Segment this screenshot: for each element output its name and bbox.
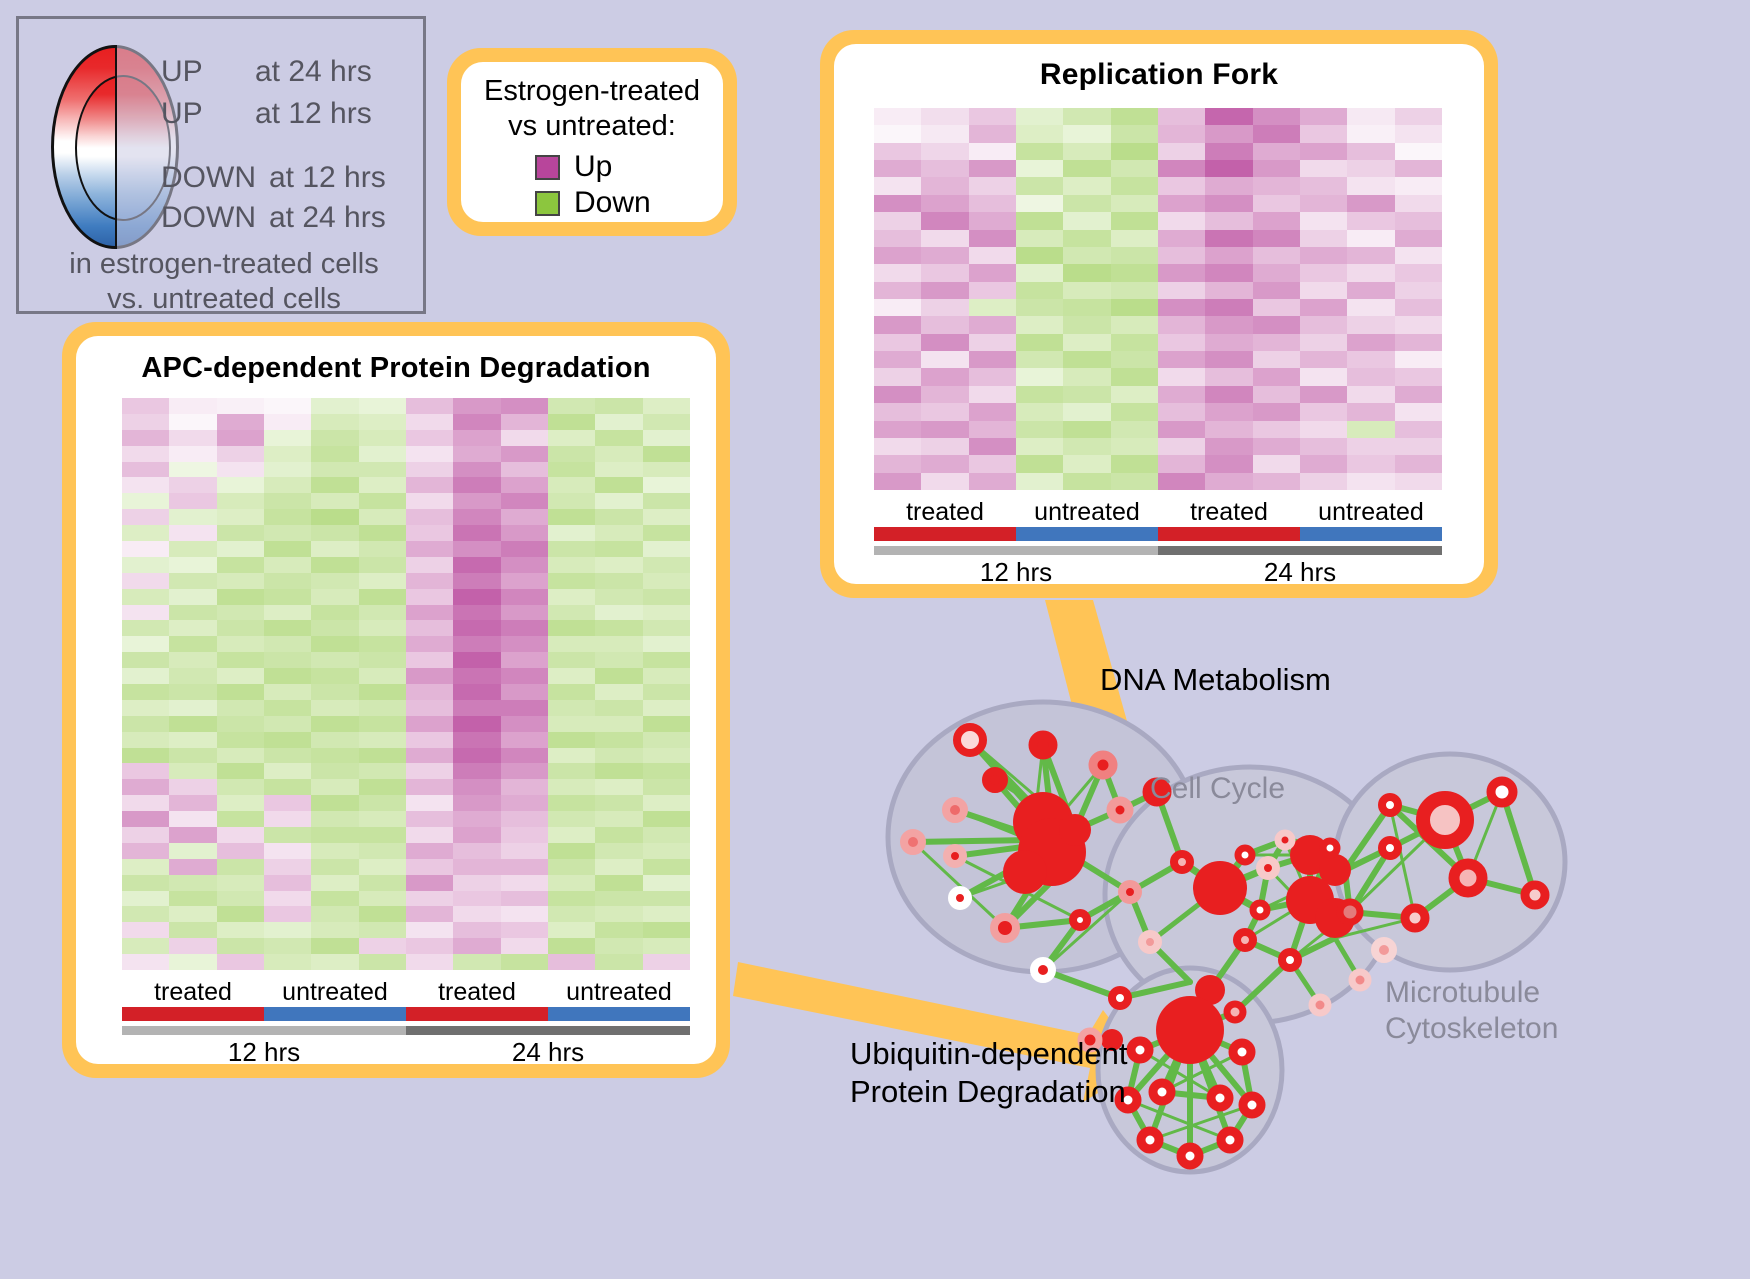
node <box>1323 841 1337 855</box>
timepoint-labels: 12 hrs24 hrs <box>874 557 1442 588</box>
condition-bar-segment <box>874 527 1016 541</box>
heatmap-cell <box>169 700 216 716</box>
circle-legend-footer-line2: vs. untreated cells <box>19 282 429 317</box>
heatmap-cell <box>501 875 548 891</box>
heatmap-cell <box>1158 230 1205 247</box>
heatmap-cell <box>311 684 358 700</box>
condition-bar-segment <box>264 1007 406 1021</box>
heatmap-cell <box>169 763 216 779</box>
heatmap-cell <box>217 906 264 922</box>
heatmap-cell <box>548 875 595 891</box>
circle-legend-footer: in estrogen-treated cells vs. untreated … <box>19 247 429 317</box>
heatmap-cell <box>501 938 548 954</box>
heatmap-cell <box>217 843 264 859</box>
heatmap-cell <box>548 716 595 732</box>
heatmap-cell <box>501 541 548 557</box>
heatmap-cell <box>643 398 690 414</box>
heatmap-cell <box>1158 386 1205 403</box>
heatmap-cell <box>1205 160 1252 177</box>
heatmap-cell <box>169 462 216 478</box>
heatmap-cell <box>264 446 311 462</box>
circle-legend-box: UP at 24 hrs UP at 12 hrs DOWN at 12 hrs… <box>16 16 426 314</box>
heatmap-cell <box>1111 195 1158 212</box>
heatmap-cell <box>122 573 169 589</box>
heatmap-cell <box>921 282 968 299</box>
heatmap-cell <box>548 795 595 811</box>
heatmap-cell <box>217 541 264 557</box>
heatmap-cell <box>264 525 311 541</box>
heatmap-cell <box>311 827 358 843</box>
heatmap-cell <box>1300 177 1347 194</box>
heatmap-cell <box>1111 177 1158 194</box>
node <box>1454 864 1482 892</box>
heatmap-cell <box>122 557 169 573</box>
heatmap-cell <box>453 652 500 668</box>
heatmap-cell <box>122 684 169 700</box>
heatmap-cell <box>1253 455 1300 472</box>
heatmap-cell <box>1347 334 1394 351</box>
node <box>1122 884 1138 900</box>
heatmap-cell <box>453 700 500 716</box>
heatmap-cell <box>1395 473 1442 490</box>
heatmap-cell <box>217 716 264 732</box>
heatmap-cell <box>1158 160 1205 177</box>
heatmap-cell <box>1395 368 1442 385</box>
condition-color-bar <box>122 1007 690 1021</box>
heatmap-cell <box>874 108 921 125</box>
timepoint-label: 12 hrs <box>122 1037 406 1068</box>
heatmap-cell <box>264 795 311 811</box>
heatmap-cell <box>1347 264 1394 281</box>
condition-label: untreated <box>1300 498 1442 527</box>
heatmap-cell <box>1016 334 1063 351</box>
heatmap-cell <box>359 795 406 811</box>
heatmap-cell <box>217 605 264 621</box>
heatmap-cell <box>122 493 169 509</box>
heatmap-cell <box>548 684 595 700</box>
heatmap-cell <box>311 748 358 764</box>
heatmap-cell <box>1347 299 1394 316</box>
heatmap-cell <box>1111 421 1158 438</box>
heatmap-cell <box>921 177 968 194</box>
heatmap-cell <box>643 906 690 922</box>
heatmap-cell <box>406 954 453 970</box>
heatmap-cell <box>169 525 216 541</box>
heatmap-cell <box>643 573 690 589</box>
heatmap-cell <box>311 525 358 541</box>
node <box>1243 1096 1261 1114</box>
node <box>952 890 968 906</box>
node <box>1141 1131 1159 1149</box>
heatmap-cell <box>969 264 1016 281</box>
heatmap-cell <box>1111 247 1158 264</box>
heatmap-cell <box>359 779 406 795</box>
heatmap-cell <box>643 541 690 557</box>
heatmap-cell <box>453 430 500 446</box>
legend-time-0: at 24 hrs <box>255 55 372 89</box>
heatmap-cell <box>359 668 406 684</box>
heatmap-cell <box>264 684 311 700</box>
node-hub <box>1003 850 1047 894</box>
heatmap-cell <box>1395 160 1442 177</box>
heatmap-cell <box>1158 351 1205 368</box>
heatmap-cell <box>217 620 264 636</box>
heatmap-cell <box>1300 247 1347 264</box>
heatmap-cell <box>453 891 500 907</box>
heatmap-cell <box>311 462 358 478</box>
heatmap-cell <box>406 827 453 843</box>
heatmap-cell <box>548 763 595 779</box>
node <box>1227 1004 1243 1020</box>
heatmap-cell <box>1347 438 1394 455</box>
heatmap-cell <box>359 462 406 478</box>
heatmap-cell <box>359 906 406 922</box>
heatmap-cell <box>1205 177 1252 194</box>
heatmap-cell <box>1300 125 1347 142</box>
heatmap-cell <box>453 462 500 478</box>
heatmap-cell <box>359 843 406 859</box>
heatmap-cell <box>969 160 1016 177</box>
heatmap-cell <box>921 334 968 351</box>
heatmap-cell <box>595 652 642 668</box>
heatmap-cell <box>406 557 453 573</box>
heatmap-cell <box>1063 177 1110 194</box>
heatmap-cell <box>264 922 311 938</box>
heatmap-cell <box>406 605 453 621</box>
heatmap-cell <box>501 732 548 748</box>
heatmap-cell <box>1253 351 1300 368</box>
heatmap-cell <box>406 748 453 764</box>
heatmap-cell <box>359 811 406 827</box>
apc-degradation-title: APC-dependent Protein Degradation <box>76 336 716 385</box>
heatmap-cell <box>1395 282 1442 299</box>
heatmap-cell <box>643 922 690 938</box>
heatmap-cell <box>264 891 311 907</box>
heatmap-cell <box>359 652 406 668</box>
heatmap-cell <box>643 748 690 764</box>
heatmap-cell <box>217 573 264 589</box>
heatmap-cell <box>359 875 406 891</box>
heatmap-cell <box>501 922 548 938</box>
heatmap-cell <box>643 509 690 525</box>
heatmap-cell <box>643 859 690 875</box>
condition-label: untreated <box>1016 498 1158 527</box>
heatmap-cell <box>1063 421 1110 438</box>
heatmap-cell <box>874 160 921 177</box>
timepoint-color-bar <box>122 1026 690 1035</box>
heatmap-cell <box>169 716 216 732</box>
heatmap-cell <box>1063 473 1110 490</box>
heatmap-cell <box>1158 247 1205 264</box>
heatmap-cell <box>643 605 690 621</box>
heatmap-cell <box>1063 212 1110 229</box>
key-title-line2: vs untreated: <box>461 109 723 144</box>
heatmap-cell <box>1395 299 1442 316</box>
heatmap-cell <box>921 351 968 368</box>
heatmap-cell <box>643 684 690 700</box>
heatmap-cell <box>1395 264 1442 281</box>
heatmap-cell <box>217 493 264 509</box>
heatmap-cell <box>874 421 921 438</box>
heatmap-cell <box>548 462 595 478</box>
heatmap-cell <box>217 859 264 875</box>
heatmap-cell <box>453 589 500 605</box>
heatmap-cell <box>1395 108 1442 125</box>
replication-fork-heatmap <box>874 108 1442 490</box>
donut-midline <box>115 45 117 249</box>
heatmap-cell <box>1016 195 1063 212</box>
heatmap-cell <box>217 652 264 668</box>
heatmap-cell <box>122 732 169 748</box>
heatmap-cell <box>217 875 264 891</box>
heatmap-cell <box>969 473 1016 490</box>
heatmap-cell <box>1205 143 1252 160</box>
heatmap-cell <box>1300 403 1347 420</box>
condition-label: untreated <box>548 978 690 1007</box>
heatmap-cell <box>169 636 216 652</box>
heatmap-cell <box>1205 195 1252 212</box>
heatmap-cell <box>1253 421 1300 438</box>
heatmap-cell <box>1300 108 1347 125</box>
heatmap-cell <box>1063 230 1110 247</box>
heatmap-cell <box>595 684 642 700</box>
heatmap-cell <box>595 446 642 462</box>
heatmap-cell <box>874 264 921 281</box>
heatmap-cell <box>643 716 690 732</box>
heatmap-cell <box>1158 334 1205 351</box>
timepoint-bar-segment <box>874 546 1158 555</box>
heatmap-cell <box>453 605 500 621</box>
heatmap-cell <box>595 620 642 636</box>
heatmap-cell <box>1205 438 1252 455</box>
heatmap-cell <box>406 779 453 795</box>
heatmap-cell <box>122 779 169 795</box>
heatmap-cell <box>1253 438 1300 455</box>
condition-bar-segment <box>1158 527 1300 541</box>
condition-bar-segment <box>1300 527 1442 541</box>
heatmap-cell <box>217 795 264 811</box>
heatmap-cell <box>264 811 311 827</box>
heatmap-cell <box>406 938 453 954</box>
heatmap-cell <box>406 620 453 636</box>
heatmap-cell <box>1111 282 1158 299</box>
heatmap-cell <box>1111 264 1158 281</box>
heatmap-cell <box>548 843 595 859</box>
heatmap-cell <box>406 573 453 589</box>
heatmap-cell <box>1158 421 1205 438</box>
heatmap-cell <box>453 509 500 525</box>
heatmap-cell <box>595 779 642 795</box>
heatmap-cell <box>169 620 216 636</box>
heatmap-cell <box>1111 212 1158 229</box>
heatmap-cell <box>264 859 311 875</box>
heatmap-cell <box>921 108 968 125</box>
heatmap-cell <box>122 795 169 811</box>
heatmap-cell <box>874 316 921 333</box>
heatmap-cell <box>1016 125 1063 142</box>
heatmap-cell <box>595 938 642 954</box>
heatmap-cell <box>969 125 1016 142</box>
heatmap-cell <box>501 716 548 732</box>
heatmap-cell <box>595 891 642 907</box>
timepoint-bar-segment <box>1158 546 1442 555</box>
heatmap-cell <box>169 795 216 811</box>
heatmap-cell <box>1347 403 1394 420</box>
condition-bar-segment <box>548 1007 690 1021</box>
heatmap-cell <box>406 732 453 748</box>
heatmap-cell <box>1347 125 1394 142</box>
heatmap-cell <box>169 589 216 605</box>
heatmap-cell <box>264 462 311 478</box>
heatmap-cell <box>1253 125 1300 142</box>
heatmap-cell <box>1300 212 1347 229</box>
heatmap-cell <box>1347 230 1394 247</box>
heatmap-cell <box>548 891 595 907</box>
heatmap-cell <box>1300 282 1347 299</box>
heatmap-cell <box>643 795 690 811</box>
heatmap-cell <box>501 509 548 525</box>
heatmap-cell <box>406 716 453 732</box>
pathway-network: DNA Metabolism Cell Cycle Microtubule Cy… <box>790 600 1750 1279</box>
heatmap-cell <box>501 557 548 573</box>
heatmap-cell <box>122 811 169 827</box>
heatmap-cell <box>874 334 921 351</box>
heatmap-cell <box>548 620 595 636</box>
node <box>1253 903 1267 917</box>
heatmap-cell <box>1347 455 1394 472</box>
heatmap-cell <box>874 230 921 247</box>
heatmap-cell <box>595 732 642 748</box>
heatmap-cell <box>264 573 311 589</box>
heatmap-cell <box>501 811 548 827</box>
heatmap-cell <box>217 748 264 764</box>
heatmap-cell <box>969 421 1016 438</box>
heatmap-cell <box>264 843 311 859</box>
heatmap-cell <box>311 716 358 732</box>
heatmap-cell <box>311 843 358 859</box>
heatmap-cell <box>169 668 216 684</box>
heatmap-cell <box>1063 108 1110 125</box>
heatmap-cell <box>453 843 500 859</box>
heatmap-cell <box>311 700 358 716</box>
heatmap-cell <box>217 477 264 493</box>
heatmap-cell <box>595 716 642 732</box>
heatmap-cell <box>264 493 311 509</box>
replication-fork-panel: Replication Fork treateduntreatedtreated… <box>820 30 1498 598</box>
heatmap-cell <box>643 875 690 891</box>
heatmap-cell <box>217 732 264 748</box>
node <box>1153 1083 1171 1101</box>
node <box>1142 934 1158 950</box>
apc-degradation-panel: APC-dependent Protein Degradation treate… <box>62 322 730 1078</box>
heatmap-cell <box>1347 212 1394 229</box>
heatmap-cell <box>359 509 406 525</box>
heatmap-cell <box>1205 230 1252 247</box>
heatmap-cell <box>122 922 169 938</box>
heatmap-cell <box>1158 403 1205 420</box>
heatmap-cell <box>1300 299 1347 316</box>
heatmap-cell <box>1395 351 1442 368</box>
heatmap-cell <box>595 557 642 573</box>
heatmap-cell <box>169 446 216 462</box>
heatmap-cell <box>264 636 311 652</box>
heatmap-cell <box>406 811 453 827</box>
node <box>1221 1131 1239 1149</box>
heatmap-cell <box>643 446 690 462</box>
heatmap-cell <box>643 636 690 652</box>
heatmap-cell <box>548 906 595 922</box>
heatmap-cell <box>169 398 216 414</box>
heatmap-cell <box>921 160 968 177</box>
heatmap-cell <box>169 922 216 938</box>
heatmap-cell <box>453 620 500 636</box>
heatmap-cell <box>874 455 921 472</box>
node <box>1034 961 1052 979</box>
up-swatch-icon <box>535 155 560 180</box>
node <box>1340 902 1360 922</box>
heatmap-cell <box>359 684 406 700</box>
heatmap-cell <box>969 438 1016 455</box>
condition-bar-segment <box>406 1007 548 1021</box>
heatmap-cell <box>264 938 311 954</box>
heatmap-cell <box>217 589 264 605</box>
node <box>1278 833 1292 847</box>
heatmap-cell <box>311 398 358 414</box>
node <box>1033 735 1053 755</box>
heatmap-cell <box>501 525 548 541</box>
heatmap-cell <box>595 573 642 589</box>
heatmap-cell <box>1158 264 1205 281</box>
heatmap-cell <box>643 779 690 795</box>
heatmap-cell <box>122 668 169 684</box>
heatmap-cell <box>1395 455 1442 472</box>
heatmap-cell <box>406 636 453 652</box>
node <box>1112 990 1128 1006</box>
heatmap-cell <box>643 732 690 748</box>
heatmap-cell <box>548 541 595 557</box>
heatmap-cell <box>1016 177 1063 194</box>
heatmap-cell <box>1205 386 1252 403</box>
heatmap-cell <box>874 143 921 160</box>
node <box>1174 854 1190 870</box>
heatmap-cell <box>169 779 216 795</box>
heatmap-cell <box>1253 212 1300 229</box>
heatmap-cell <box>311 732 358 748</box>
heatmap-cell <box>921 368 968 385</box>
heatmap-cell <box>169 509 216 525</box>
heatmap-cell <box>921 473 968 490</box>
heatmap-cell <box>359 589 406 605</box>
heatmap-cell <box>548 414 595 430</box>
heatmap-cell <box>548 732 595 748</box>
heatmap-cell <box>264 954 311 970</box>
heatmap-cell <box>874 247 921 264</box>
heatmap-cell <box>548 922 595 938</box>
heatmap-cell <box>359 493 406 509</box>
heatmap-cell <box>595 748 642 764</box>
heatmap-cell <box>453 414 500 430</box>
heatmap-cell <box>921 386 968 403</box>
heatmap-cell <box>1395 438 1442 455</box>
heatmap-cell <box>264 668 311 684</box>
heatmap-cell <box>643 589 690 605</box>
heatmap-cell <box>1158 212 1205 229</box>
heatmap-cell <box>1111 368 1158 385</box>
heatmap-cell <box>643 700 690 716</box>
heatmap-cell <box>969 368 1016 385</box>
node <box>1352 972 1368 988</box>
heatmap-cell <box>969 195 1016 212</box>
